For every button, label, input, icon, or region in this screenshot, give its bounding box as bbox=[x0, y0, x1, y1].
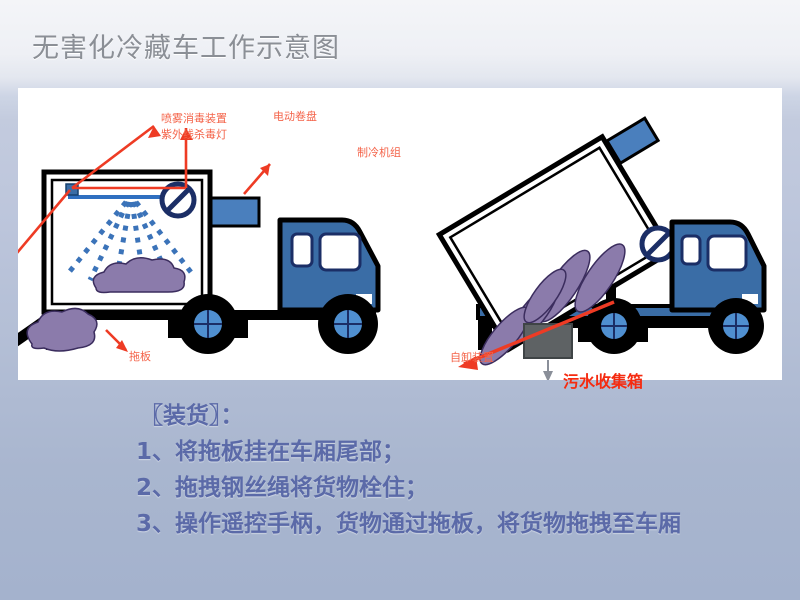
instruction-step-1: 1、将拖板挂在车厢尾部； bbox=[136, 434, 796, 470]
left-cab-side-window bbox=[292, 234, 312, 266]
label-uv-lamp: 紫外线杀毒灯 bbox=[161, 128, 227, 142]
right-cab-windshield bbox=[708, 236, 746, 270]
label-sewage-collection-tank: 污水收集箱 bbox=[563, 372, 643, 392]
right-refrigeration-unit bbox=[607, 118, 658, 163]
ground-cargo-left bbox=[27, 308, 97, 351]
left-truck-group bbox=[18, 126, 378, 380]
label-tow-board: 拖板 bbox=[129, 350, 151, 364]
instruction-step-2: 2、拖拽钢丝绳将货物栓住； bbox=[136, 470, 796, 506]
instruction-step-3: 3、操作遥控手柄，货物通过拖板，将货物拖拽至车厢 bbox=[136, 506, 796, 542]
label-spray-disinfect: 喷雾消毒装置 bbox=[161, 112, 227, 126]
label-self-unload-device: 自卸装置 bbox=[450, 351, 494, 365]
page-title: 无害化冷藏车工作示意图 bbox=[32, 26, 340, 65]
slide-canvas: 无害化冷藏车工作示意图 bbox=[0, 0, 800, 600]
refrigeration-unit-icon bbox=[211, 198, 259, 226]
right-truck-group bbox=[439, 118, 764, 380]
instructions-block: 〖装货〗： 1、将拖板挂在车厢尾部； 2、拖拽钢丝绳将货物栓住； 3、操作遥控手… bbox=[136, 398, 796, 542]
sewage-arrow-head bbox=[543, 371, 553, 380]
label-electric-reel: 电动卷盘 bbox=[273, 110, 317, 124]
instructions-heading: 〖装货〗： bbox=[140, 398, 796, 434]
label-refrigeration-unit: 制冷机组 bbox=[357, 146, 401, 160]
left-cab-windshield bbox=[320, 234, 360, 270]
diagram-panel: 喷雾消毒装置 紫外线杀毒灯 电动卷盘 制冷机组 拖板 自卸装置 污水收集箱 bbox=[18, 88, 782, 380]
right-electric-reel-icon bbox=[642, 228, 674, 260]
right-cab-side-window bbox=[682, 236, 700, 264]
truck-diagram-svg bbox=[18, 88, 782, 380]
